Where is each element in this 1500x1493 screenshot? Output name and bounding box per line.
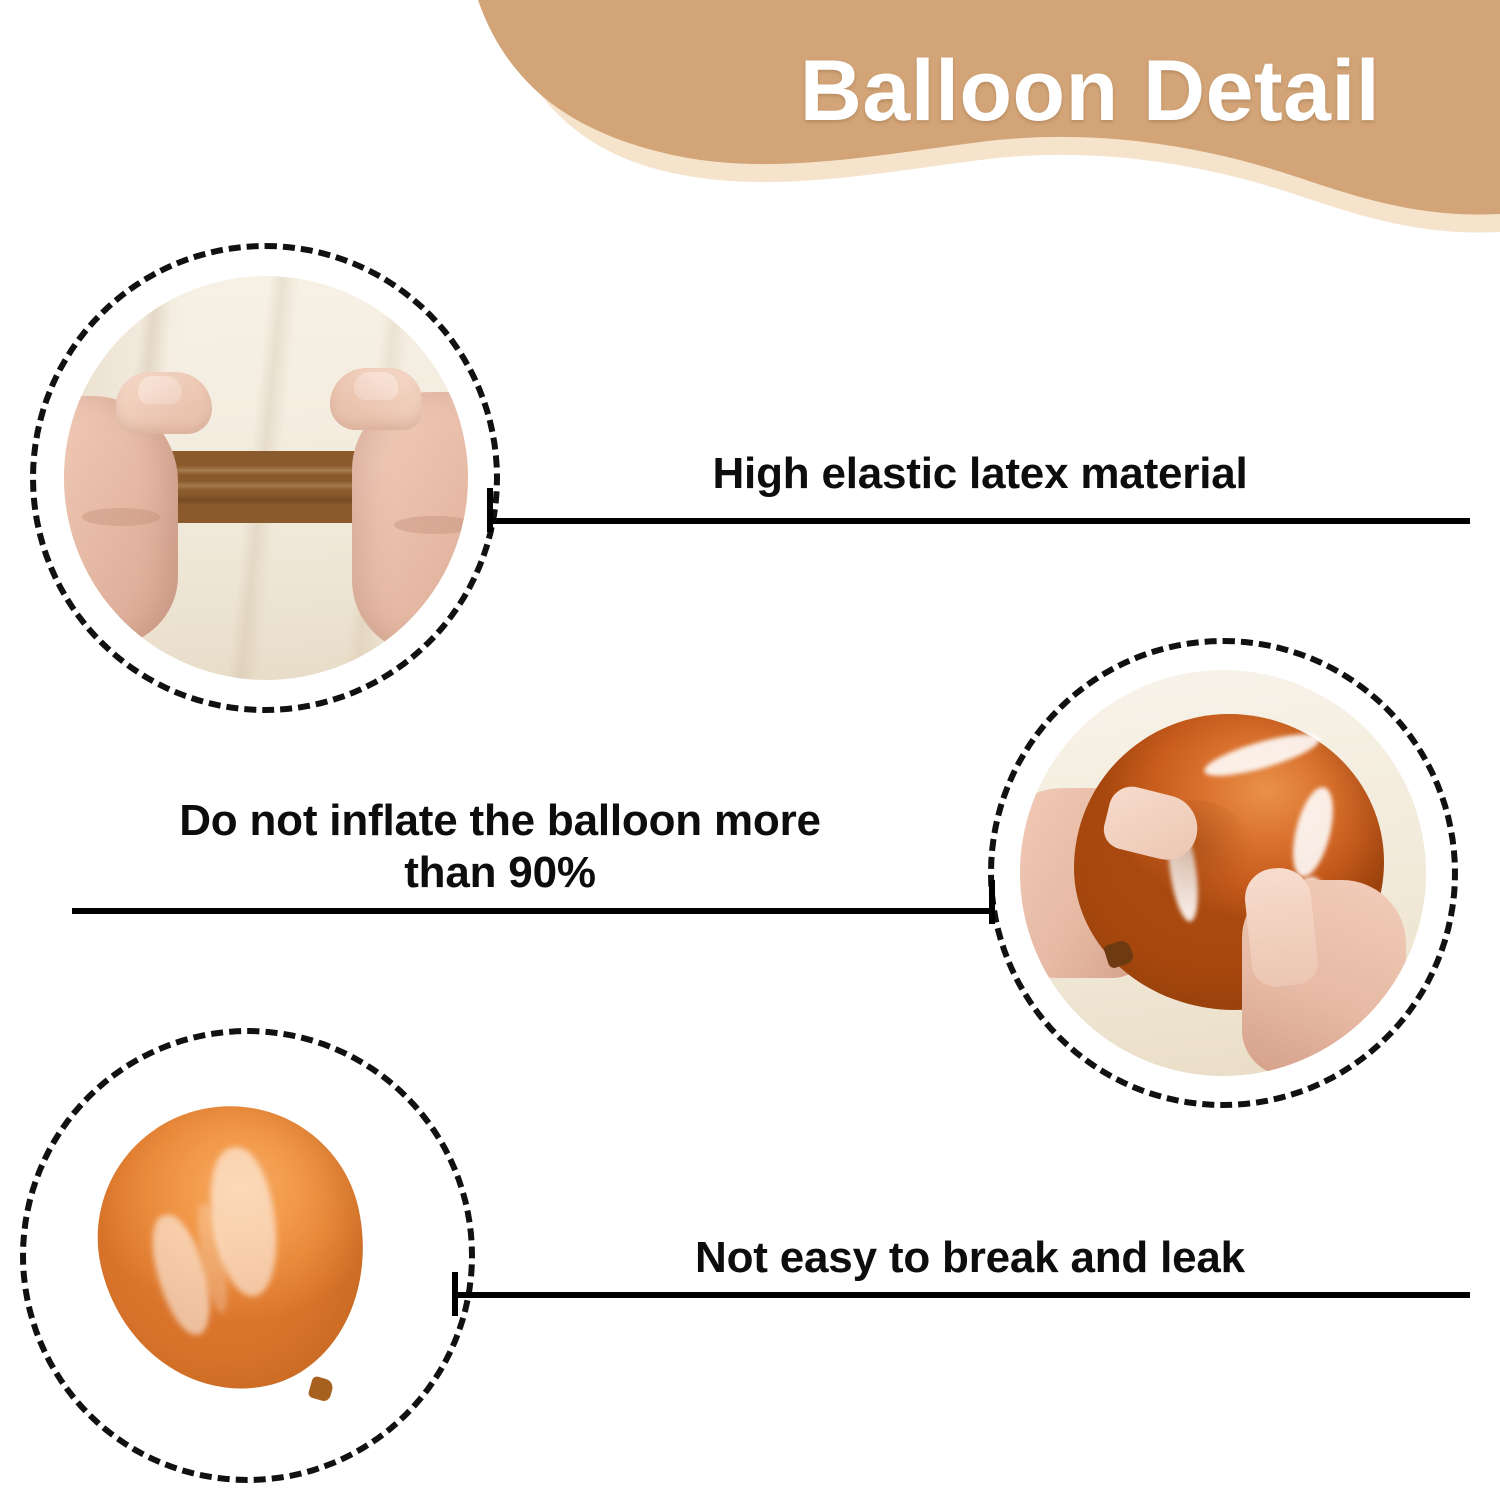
header-banner: Balloon Detail bbox=[0, 0, 1500, 260]
single-balloon-photo bbox=[52, 1058, 444, 1450]
latex-stretch-photo bbox=[64, 276, 468, 680]
feature-2-label-line-1: Do not inflate the balloon more bbox=[60, 795, 940, 847]
feature-3-rule bbox=[452, 1292, 1470, 1298]
balloon-highlight bbox=[1201, 726, 1324, 784]
feature-1-tick bbox=[487, 488, 493, 532]
feature-3-label: Not easy to break and leak bbox=[470, 1232, 1470, 1284]
banner-shape bbox=[0, 0, 1500, 260]
orange-balloon bbox=[73, 1082, 390, 1415]
left-thumbnail bbox=[138, 376, 182, 404]
right-thumbnail bbox=[354, 372, 398, 400]
feature-2-label-line-2: than 90% bbox=[60, 847, 940, 899]
product-detail-infographic: Balloon Detail High elastic latex materi… bbox=[0, 0, 1500, 1493]
banner-main-shape bbox=[478, 0, 1500, 215]
balloon-squeeze-photo bbox=[1020, 670, 1426, 1076]
feature-2-label: Do not inflate the balloon more than 90% bbox=[60, 795, 940, 899]
right-hand-crease bbox=[394, 516, 468, 534]
banner-edge-shape bbox=[497, 0, 1500, 233]
feature-1-rule bbox=[487, 518, 1470, 524]
left-hand-crease bbox=[82, 508, 160, 526]
balloon-highlight bbox=[1285, 783, 1340, 880]
feature-1-label: High elastic latex material bbox=[500, 448, 1460, 500]
balloon-knot bbox=[307, 1375, 334, 1402]
feature-2-tick bbox=[989, 880, 995, 924]
page-title: Balloon Detail bbox=[700, 48, 1480, 134]
feature-2-rule bbox=[72, 908, 995, 914]
